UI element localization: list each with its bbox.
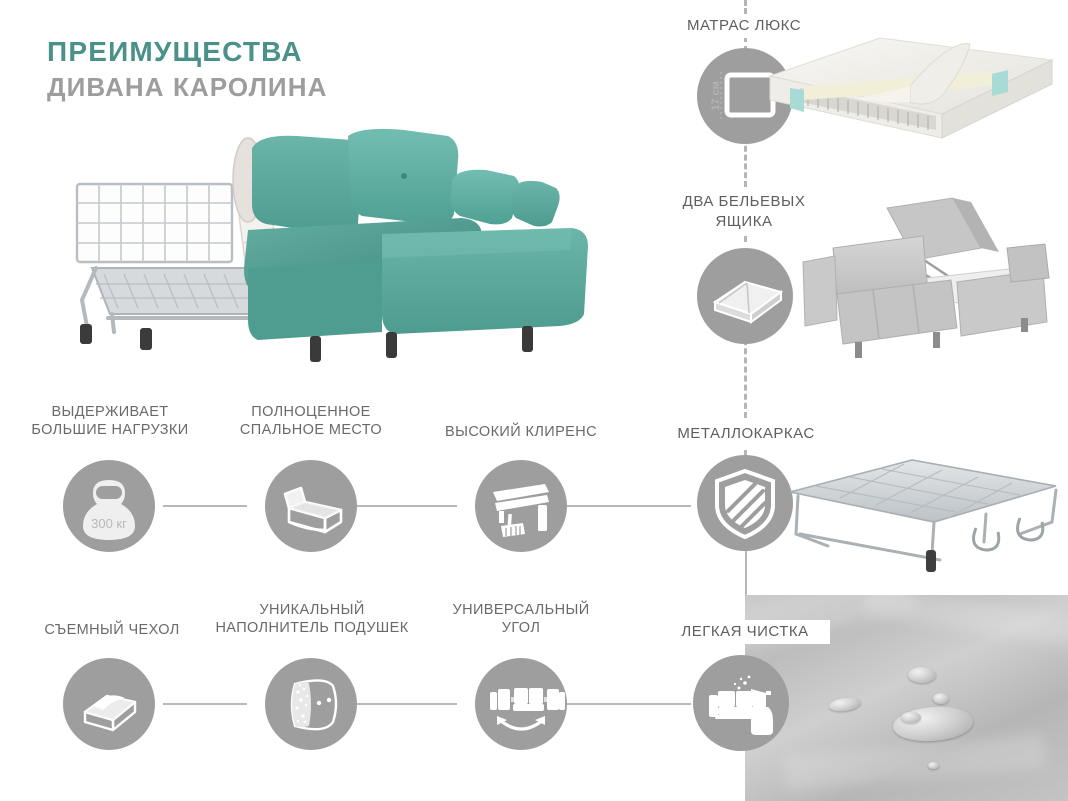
- water-droplet: [901, 712, 921, 723]
- connector-row1-c: [567, 505, 691, 507]
- feature-label-clearance: ВЫСОКИЙ КЛИРЕНС: [421, 423, 621, 441]
- bed-icon: [265, 460, 357, 552]
- connector-row1-a: [163, 505, 247, 507]
- connector-row1-b: [357, 505, 457, 507]
- universal-corner-icon: [475, 658, 567, 750]
- water-droplet: [933, 693, 949, 704]
- sofa-spray-icon: [693, 655, 789, 751]
- water-droplet: [908, 667, 936, 683]
- mattress-cutaway-image: [760, 30, 1060, 148]
- mattress-thickness-value: 17 см: [710, 81, 722, 111]
- shield-icon: [697, 455, 793, 551]
- feature-label-filler: УНИКАЛЬНЫЙ НАПОЛНИТЕЛЬ ПОДУШЕК: [196, 601, 428, 637]
- infographic-page: ПРЕИМУЩЕСТВА ДИВАНА КАРОЛИНА: [0, 0, 1068, 801]
- connector-row2-b: [357, 703, 457, 705]
- title-line-primary: ПРЕИМУЩЕСТВА: [47, 34, 327, 70]
- connector-row2-c: [567, 703, 691, 705]
- kettlebell-icon: 300 кг: [63, 460, 155, 552]
- title-line-secondary: ДИВАНА КАРОЛИНА: [47, 70, 327, 104]
- removable-cover-icon: [63, 658, 155, 750]
- right-label-metal-frame: МЕТАЛЛОКАРКАС: [657, 422, 835, 446]
- feature-label-sleeping-place: ПОЛНОЦЕННОЕ СПАЛЬНОЕ МЕСТО: [211, 403, 411, 439]
- kettlebell-value: 300 кг: [91, 516, 127, 531]
- storage-drawers-image: [775, 196, 1065, 366]
- right-label-easy-clean: ЛЕГКАЯ ЧИСТКА: [660, 620, 830, 644]
- page-title: ПРЕИМУЩЕСТВА ДИВАНА КАРОЛИНА: [47, 34, 327, 104]
- sofa-broom-icon: [475, 460, 567, 552]
- water-droplet: [891, 703, 974, 745]
- cushion-filler-icon: [265, 658, 357, 750]
- hero-sofa-image: [52, 118, 612, 370]
- water-droplet: [828, 696, 861, 713]
- feature-label-cover: СЪЕМНЫЙ ЧЕХОЛ: [12, 621, 212, 639]
- metal-frame-image: [780, 450, 1065, 575]
- feature-label-load: ВЫДЕРЖИВАЕТ БОЛЬШИЕ НАГРУЗКИ: [10, 403, 210, 439]
- water-droplet: [928, 762, 939, 769]
- spine-dash-2: [744, 137, 747, 187]
- feature-label-corner: УНИВЕРСАЛЬНЫЙ УГОЛ: [421, 601, 621, 637]
- connector-row2-a: [163, 703, 247, 705]
